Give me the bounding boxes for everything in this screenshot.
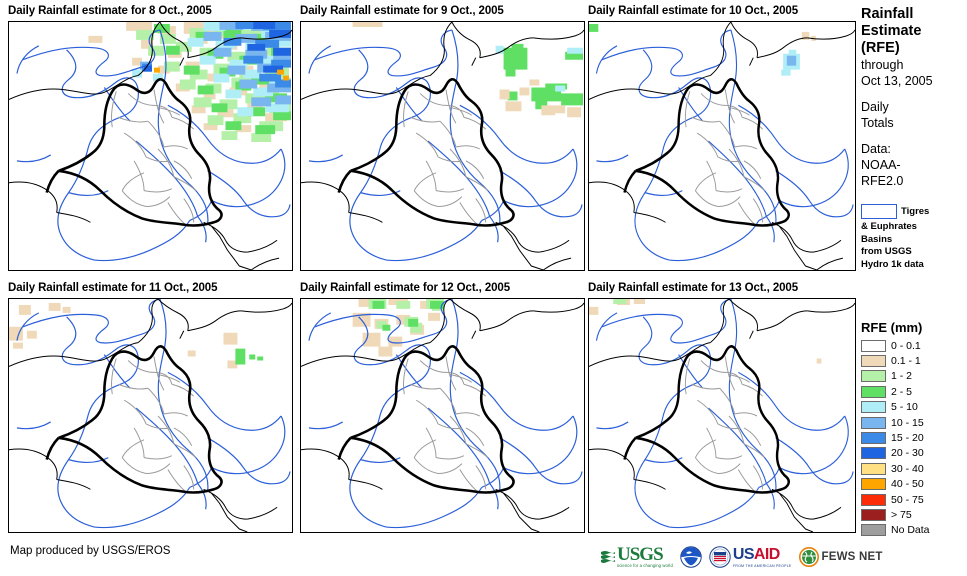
map-canvas-oct-12 xyxy=(301,299,584,532)
rfe-class-label: > 75 xyxy=(891,509,912,521)
map-frame-oct-13[interactable] xyxy=(588,298,856,533)
rfe-swatch xyxy=(861,355,886,367)
map-frame-oct-11[interactable] xyxy=(8,298,293,533)
usaid-tagline: FROM THE AMERICAN PEOPLE xyxy=(733,564,792,569)
rfe-class-label: 0 - 0.1 xyxy=(891,340,921,352)
rfe-legend-rows: 0 - 0.10.1 - 11 - 22 - 55 - 1010 - 1515 … xyxy=(861,338,967,538)
rfe-legend-row: No Data xyxy=(861,523,967,538)
rfe-swatch xyxy=(861,463,886,475)
rfe-swatch xyxy=(861,386,886,398)
rfe-class-label: 2 - 5 xyxy=(891,386,912,398)
rfe-legend-row: 15 - 20 xyxy=(861,430,967,445)
rfe-swatch xyxy=(861,340,886,352)
rfe-swatch xyxy=(861,478,886,490)
sidebar-title-line3: (RFE) xyxy=(861,40,967,57)
panel-oct-09[interactable]: Daily Rainfall estimate for 9 Oct., 2005 xyxy=(300,4,504,18)
sidebar-data-label: Data: xyxy=(861,141,967,157)
rfe-class-label: 40 - 50 xyxy=(891,478,924,490)
panel-title-oct-09: Daily Rainfall estimate for 9 Oct., 2005 xyxy=(300,4,504,18)
sidebar-totals-line2: Totals xyxy=(861,115,967,131)
basin-label-line4: from USGS xyxy=(861,246,967,259)
usgs-wordmark: USGS xyxy=(617,546,673,563)
usgs-logo[interactable]: USGS science for a changing world xyxy=(600,544,673,570)
rfe-legend-row: 50 - 75 xyxy=(861,492,967,507)
usaid-wordmark: USAID xyxy=(733,546,792,564)
rfe-class-label: 15 - 20 xyxy=(891,432,924,444)
rfe-legend-row: 20 - 30 xyxy=(861,446,967,461)
rfe-legend: RFE (mm) 0 - 0.10.1 - 11 - 22 - 55 - 101… xyxy=(861,320,967,538)
rfe-legend-row: 1 - 2 xyxy=(861,369,967,384)
rfe-swatch xyxy=(861,524,886,536)
rfe-legend-heading: RFE (mm) xyxy=(861,320,967,335)
rainfall-estimate-map-page: Daily Rainfall estimate for 8 Oct., 2005 xyxy=(0,0,967,576)
panel-oct-12[interactable]: Daily Rainfall estimate for 12 Oct., 200… xyxy=(300,281,510,295)
panel-title-oct-13: Daily Rainfall estimate for 13 Oct., 200… xyxy=(588,281,798,295)
rfe-swatch xyxy=(861,417,886,429)
rfe-class-label: No Data xyxy=(891,524,930,536)
panel-oct-13[interactable]: Daily Rainfall estimate for 13 Oct., 200… xyxy=(588,281,798,295)
map-canvas-oct-11 xyxy=(9,299,292,532)
usgs-wave-icon xyxy=(600,549,616,565)
basin-label-line3: Basins xyxy=(861,234,967,247)
map-frame-oct-08[interactable] xyxy=(8,21,293,271)
sidebar-title-line1: Rainfall xyxy=(861,6,967,23)
rfe-swatch xyxy=(861,509,886,521)
rfe-class-label: 1 - 2 xyxy=(891,370,912,382)
rfe-legend-row: 0 - 0.1 xyxy=(861,338,967,353)
map-frame-oct-12[interactable] xyxy=(300,298,585,533)
basin-legend-key: Tigres & Euphrates Basins from USGS Hydr… xyxy=(861,203,967,271)
map-frame-oct-10[interactable] xyxy=(588,21,856,271)
panel-oct-11[interactable]: Daily Rainfall estimate for 11 Oct., 200… xyxy=(8,281,217,295)
fewsnet-logo[interactable]: FEWS NET xyxy=(799,544,883,570)
fewsnet-wordmark: FEWS NET xyxy=(822,551,883,563)
rfe-swatch xyxy=(861,370,886,382)
map-credit: Map produced by USGS/EROS xyxy=(10,545,170,557)
rfe-class-label: 20 - 30 xyxy=(891,447,924,459)
agency-logos: USGS science for a changing world xyxy=(600,543,883,571)
panel-title-oct-10: Daily Rainfall estimate for 10 Oct., 200… xyxy=(588,4,798,18)
rfe-legend-row: > 75 xyxy=(861,507,967,522)
sidebar-totals-line1: Daily xyxy=(861,99,967,115)
usaid-word-us: US xyxy=(733,546,754,563)
sidebar-data-source-line1: NOAA- xyxy=(861,157,967,173)
basin-label-line2: & Euphrates xyxy=(861,221,967,234)
basin-label-line5: Hydro 1k data xyxy=(861,259,967,272)
map-frame-oct-09[interactable] xyxy=(300,21,585,271)
rfe-legend-row: 40 - 50 xyxy=(861,477,967,492)
map-canvas-oct-08 xyxy=(9,22,292,270)
rfe-class-label: 30 - 40 xyxy=(891,463,924,475)
noaa-logo[interactable] xyxy=(680,544,702,570)
rfe-swatch xyxy=(861,494,886,506)
rfe-legend-row: 10 - 15 xyxy=(861,415,967,430)
noaa-seal-icon xyxy=(680,546,702,568)
rfe-legend-row: 0.1 - 1 xyxy=(861,353,967,368)
rfe-legend-row: 2 - 5 xyxy=(861,384,967,399)
panel-title-oct-11: Daily Rainfall estimate for 11 Oct., 200… xyxy=(8,281,217,295)
map-canvas-oct-13 xyxy=(589,299,855,532)
sidebar-data-source-line2: RFE2.0 xyxy=(861,173,967,189)
rfe-swatch xyxy=(861,432,886,444)
panel-title-oct-08: Daily Rainfall estimate for 8 Oct., 2005 xyxy=(8,4,212,18)
usgs-tagline: science for a changing world xyxy=(617,563,673,568)
panel-oct-08[interactable]: Daily Rainfall estimate for 8 Oct., 2005 xyxy=(8,4,212,18)
map-canvas-oct-10 xyxy=(589,22,855,270)
usaid-word-aid: AID xyxy=(754,546,780,563)
rfe-class-label: 0.1 - 1 xyxy=(891,355,921,367)
sidebar-title-line2: Estimate xyxy=(861,23,967,40)
basin-label-tigres: Tigres xyxy=(901,206,929,218)
map-canvas-oct-09 xyxy=(301,22,584,270)
map-legend-sidebar: Rainfall Estimate (RFE) through Oct 13, … xyxy=(861,6,967,271)
rfe-legend-row: 30 - 40 xyxy=(861,461,967,476)
usaid-seal-icon xyxy=(709,546,731,568)
rfe-swatch xyxy=(861,447,886,459)
panel-title-oct-12: Daily Rainfall estimate for 12 Oct., 200… xyxy=(300,281,510,295)
sidebar-through-label: through xyxy=(861,57,967,73)
basin-swatch xyxy=(861,204,897,219)
rfe-class-label: 50 - 75 xyxy=(891,494,924,506)
rfe-legend-row: 5 - 10 xyxy=(861,400,967,415)
panel-oct-10[interactable]: Daily Rainfall estimate for 10 Oct., 200… xyxy=(588,4,798,18)
fewsnet-globe-icon xyxy=(799,547,819,567)
sidebar-through-date: Oct 13, 2005 xyxy=(861,73,967,89)
usaid-logo[interactable]: USAID FROM THE AMERICAN PEOPLE xyxy=(709,544,792,570)
rfe-swatch xyxy=(861,401,886,413)
rfe-class-label: 10 - 15 xyxy=(891,417,924,429)
rfe-class-label: 5 - 10 xyxy=(891,401,918,413)
